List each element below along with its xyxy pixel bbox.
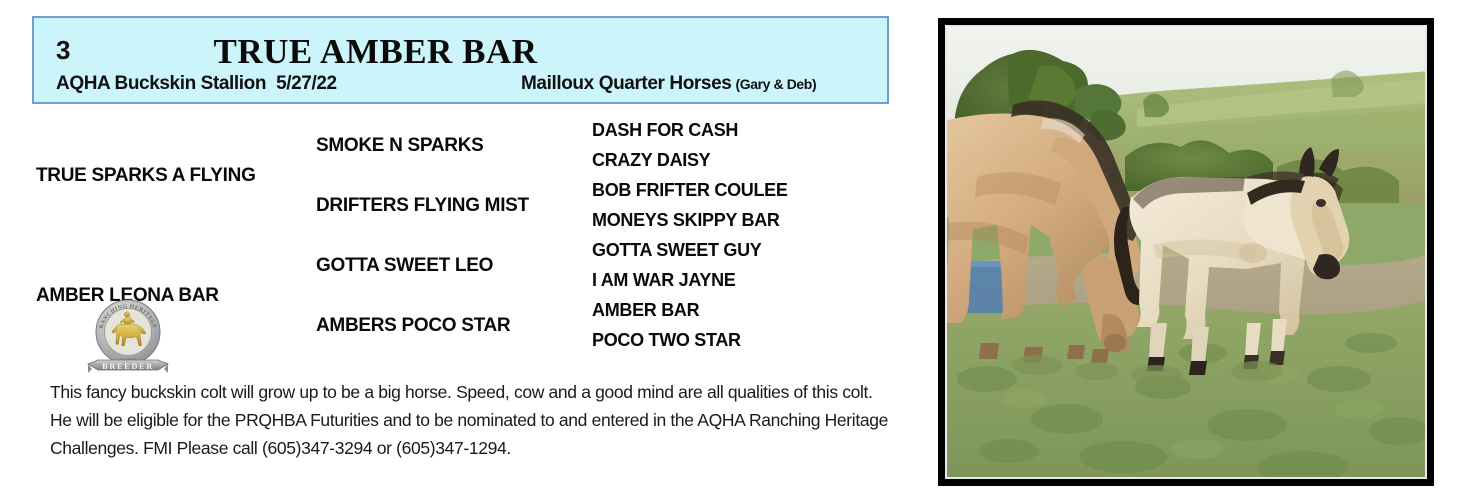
svg-text:BREEDER: BREEDER [102, 362, 154, 371]
consignor-line: Mailloux Quarter Horses(Gary & Deb) [521, 72, 816, 96]
catalog-left-panel: 3 TRUE AMBER BAR AQHA Buckskin Stallion5… [0, 0, 930, 498]
horse-photo-frame [938, 18, 1434, 486]
pedigree-paternal-grandsire: SMOKE N SPARKS [316, 135, 484, 157]
horse-header-banner: 3 TRUE AMBER BAR AQHA Buckskin Stallion5… [32, 16, 889, 104]
ranching-heritage-breeder-seal-icon: RANCHING HERITAGE AQHA [76, 296, 180, 384]
date-of-birth: 5/27/22 [276, 73, 337, 94]
pedigree-great-grandparent: MONEYS SKIPPY BAR [592, 210, 780, 231]
pedigree-maternal-grandsire: GOTTA SWEET LEO [316, 255, 493, 277]
pedigree-chart: TRUE SPARKS A FLYING AMBER LEONA BAR [0, 104, 930, 364]
page-title: TRUE AMBER BAR [34, 32, 887, 72]
mare-and-foal-photo [947, 27, 1427, 479]
pedigree-great-grandparent: BOB FRIFTER COULEE [592, 180, 788, 201]
registry-breed-sex-line: AQHA Buckskin Stallion5/27/22 [56, 72, 337, 96]
pedigree-maternal-granddam: AMBERS POCO STAR [316, 315, 510, 337]
pedigree-great-grandparent: POCO TWO STAR [592, 330, 741, 351]
registry-breed-sex: AQHA Buckskin Stallion [56, 73, 266, 94]
pedigree-great-grandparent: AMBER BAR [592, 300, 699, 321]
horse-description-text: This fancy buckskin colt will grow up to… [50, 378, 890, 462]
pedigree-great-grandparent: GOTTA SWEET GUY [592, 240, 762, 261]
pedigree-great-grandparent: I AM WAR JAYNE [592, 270, 736, 291]
horse-photo-inner-border [945, 25, 1427, 479]
pedigree-great-grandparent: CRAZY DAISY [592, 150, 710, 171]
pedigree-sire: TRUE SPARKS A FLYING [36, 165, 256, 187]
pedigree-paternal-granddam: DRIFTERS FLYING MIST [316, 195, 529, 217]
consignor-name: Mailloux Quarter Horses [521, 73, 731, 94]
consignor-owners: (Gary & Deb) [735, 76, 816, 92]
pedigree-great-grandparent: DASH FOR CASH [592, 120, 738, 141]
